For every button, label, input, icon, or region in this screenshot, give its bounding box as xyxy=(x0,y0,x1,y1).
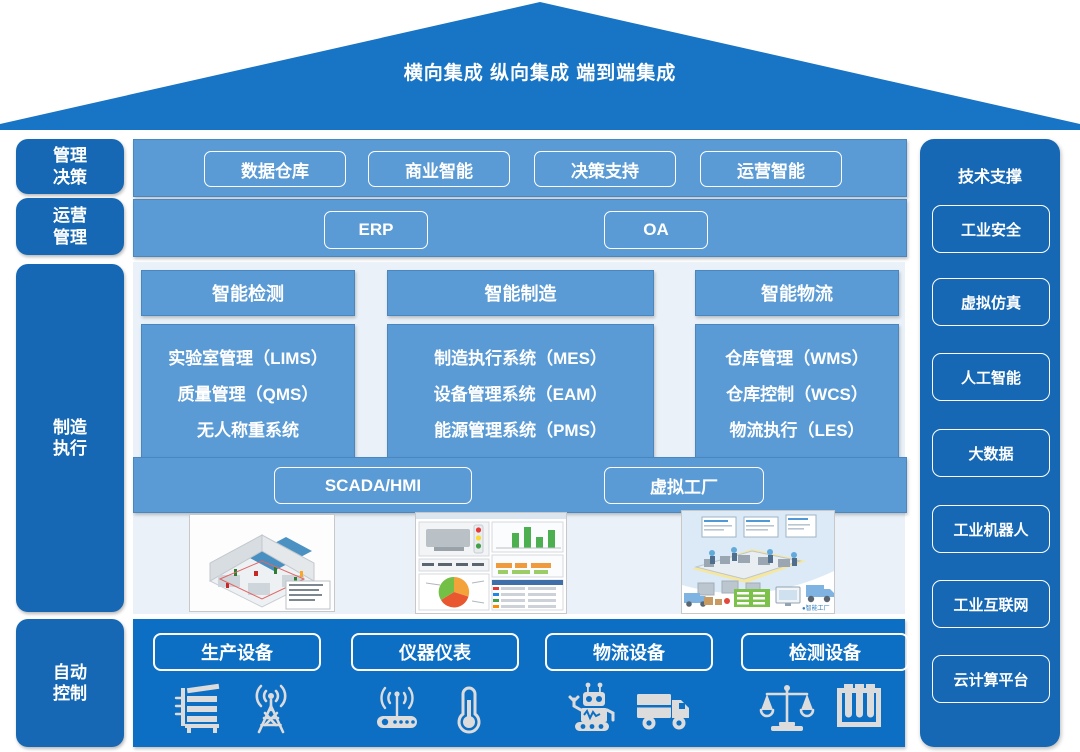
router-wifi-icon xyxy=(369,680,425,736)
automation-icons-instruments xyxy=(351,677,515,739)
manufacturing-line-pms: 能源管理系统（PMS） xyxy=(434,416,607,441)
manufacturing-line-unmanned-weighing: 无人称重系统 xyxy=(197,416,299,441)
decision-layer-panel: 数据仓库 商业智能 决策支持 运营智能 xyxy=(133,139,907,197)
automation-icons-inspection-equipment xyxy=(741,677,905,739)
manufacturing-line-wcs: 仓库控制（WCS） xyxy=(726,380,868,405)
left-pillar-item-manufacturing-execution[interactable]: 制造 执行 xyxy=(16,264,124,612)
scada-item-virtual-factory[interactable]: 虚拟工厂 xyxy=(604,467,764,504)
balance-scale-icon xyxy=(759,680,815,736)
screenshot-production-dashboard[interactable] xyxy=(415,512,567,614)
right-pillar-item-artificial-intelligence[interactable]: 人工智能 xyxy=(932,353,1050,401)
manufacturing-column-body-intelligent-inspection: 实验室管理（LIMS） 质量管理（QMS） 无人称重系统 xyxy=(141,324,355,460)
decision-item-data-warehouse[interactable]: 数据仓库 xyxy=(204,151,346,187)
right-pillar-item-cloud-platform[interactable]: 云计算平台 xyxy=(932,655,1050,703)
manufacturing-execution-panel: 智能检测 智能制造 智能物流 实验室管理（LIMS） 质量管理（QMS） 无人称… xyxy=(133,262,905,614)
decision-item-decision-support[interactable]: 决策支持 xyxy=(534,151,676,187)
operation-layer-panel: ERP OA xyxy=(133,199,907,257)
left-pillar-label: 管理 决策 xyxy=(53,145,87,188)
right-pillar-item-virtual-simulation[interactable]: 虚拟仿真 xyxy=(932,278,1050,326)
manufacturing-column-head-intelligent-manufacturing[interactable]: 智能制造 xyxy=(387,270,654,316)
antenna-tower-icon xyxy=(243,680,299,736)
left-pillar-item-automatic-control[interactable]: 自动 控制 xyxy=(16,619,124,747)
test-tube-rack-icon xyxy=(831,680,887,736)
roof-title: 横向集成 纵向集成 端到端集成 xyxy=(0,58,1080,85)
svg-text:●智能工厂: ●智能工厂 xyxy=(802,604,830,612)
manufacturing-column-body-intelligent-logistics: 仓库管理（WMS） 仓库控制（WCS） 物流执行（LES） xyxy=(695,324,899,460)
left-pillar-label: 运营 管理 xyxy=(53,205,87,248)
left-pillar-label: 自动 控制 xyxy=(53,662,87,705)
manufacturing-line-les: 物流执行（LES） xyxy=(729,416,864,441)
manufacturing-line-lims: 实验室管理（LIMS） xyxy=(168,344,328,369)
right-pillar-item-big-data[interactable]: 大数据 xyxy=(932,429,1050,477)
truck-icon xyxy=(635,680,691,736)
left-pillar-item-operation-management[interactable]: 运营 管理 xyxy=(16,198,124,255)
automation-item-inspection-equipment[interactable]: 检测设备 xyxy=(741,633,909,671)
right-pillar-item-industrial-internet[interactable]: 工业互联网 xyxy=(932,580,1050,628)
architecture-diagram: 横向集成 纵向集成 端到端集成 管理 决策 运营 管理 制造 执行 自动 控制 … xyxy=(0,0,1080,752)
right-pillar-item-industrial-safety[interactable]: 工业安全 xyxy=(932,205,1050,253)
automation-control-panel: 生产设备 仪器仪表 物流设备 检测设备 xyxy=(133,619,905,747)
automation-icons-production-equipment xyxy=(153,677,317,739)
automation-item-production-equipment[interactable]: 生产设备 xyxy=(153,633,321,671)
thermometer-icon xyxy=(441,680,497,736)
left-pillar-item-management-decision[interactable]: 管理 决策 xyxy=(16,139,124,194)
automation-item-logistics-equipment[interactable]: 物流设备 xyxy=(545,633,713,671)
manufacturing-line-mes: 制造执行系统（MES） xyxy=(434,344,607,369)
automation-icons-logistics-equipment xyxy=(545,677,709,739)
right-pillar-technical-support: 技术支撑 工业安全 虚拟仿真 人工智能 大数据 工业机器人 工业互联网 云计算平… xyxy=(920,139,1060,747)
manufacturing-line-qms: 质量管理（QMS） xyxy=(178,380,319,405)
manufacturing-column-body-intelligent-manufacturing: 制造执行系统（MES） 设备管理系统（EAM） 能源管理系统（PMS） xyxy=(387,324,654,460)
operation-item-oa[interactable]: OA xyxy=(604,211,708,249)
decision-item-business-intelligence[interactable]: 商业智能 xyxy=(368,151,510,187)
right-pillar-item-industrial-robot[interactable]: 工业机器人 xyxy=(932,505,1050,553)
manufacturing-line-eam: 设备管理系统（EAM） xyxy=(434,380,608,405)
right-pillar-title: 技术支撑 xyxy=(920,163,1060,187)
screenshot-factory-floor-3d-layout[interactable] xyxy=(189,514,335,612)
scada-band: SCADA/HMI 虚拟工厂 xyxy=(133,457,907,513)
left-pillar-label: 制造 执行 xyxy=(53,417,87,460)
manufacturing-column-head-intelligent-inspection[interactable]: 智能检测 xyxy=(141,270,355,316)
manufacturing-line-wms: 仓库管理（WMS） xyxy=(725,344,869,369)
screenshot-smart-logistics-line[interactable]: ●智能工厂 xyxy=(681,510,835,614)
decision-item-operation-intelligence[interactable]: 运营智能 xyxy=(700,151,842,187)
operation-item-erp[interactable]: ERP xyxy=(324,211,428,249)
manufacturing-column-head-intelligent-logistics[interactable]: 智能物流 xyxy=(695,270,899,316)
automation-item-instruments[interactable]: 仪器仪表 xyxy=(351,633,519,671)
robot-icon xyxy=(563,680,619,736)
scada-item-scada-hmi[interactable]: SCADA/HMI xyxy=(274,467,472,504)
machine-icon xyxy=(171,680,227,736)
